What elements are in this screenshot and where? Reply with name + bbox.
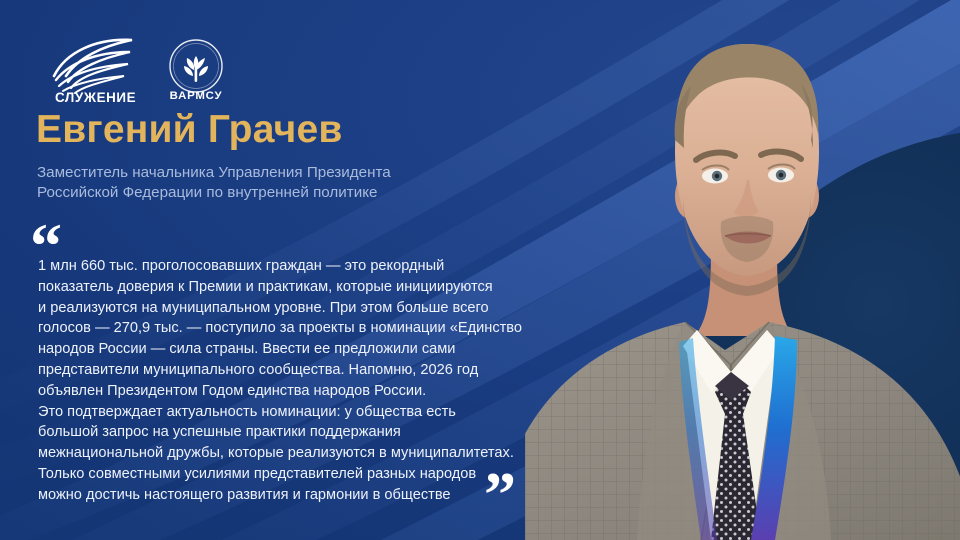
quote-line: 1 млн 660 тыс. проголосовавших граждан —… — [38, 256, 598, 277]
quote-line: можно достичь настоящего развития и гарм… — [38, 485, 598, 506]
quote-line: народов России — сила страны. Ввести ее … — [38, 339, 598, 360]
quote-line: Это подтверждает актуальность номинации:… — [38, 402, 598, 423]
quote-line: большой запрос на успешные практики подд… — [38, 422, 598, 443]
quote-paragraph: 1 млн 660 тыс. проголосовавших граждан —… — [38, 256, 598, 506]
quote-line: показатель доверия к Премии и практикам,… — [38, 277, 598, 298]
quote-line: объявлен Президентом Годом единства наро… — [38, 381, 598, 402]
quote-line: голосов — 270,9 тыс. — поступило за прое… — [38, 318, 598, 339]
speaker-role-line-2: Российской Федерации по внутренней полит… — [37, 183, 391, 203]
varmsu-logo-text: ВАРМСУ — [170, 90, 223, 102]
varmsu-logo[interactable]: ВАРМСУ — [160, 36, 232, 106]
speaker-role-line-1: Заместитель начальника Управления Презид… — [37, 163, 391, 183]
quote-line: и реализуются на муниципальном уровне. П… — [38, 298, 598, 319]
quote-line: Только совместными усилиями представител… — [38, 464, 598, 485]
quote-text: 1 млн 660 тыс. проголосовавших граждан —… — [38, 256, 598, 506]
sluzhenie-logo-text: СЛУЖЕНИЕ — [55, 90, 136, 105]
speaker-role: Заместитель начальника Управления Презид… — [37, 163, 391, 203]
speaker-name: Евгений Грачев — [36, 110, 343, 151]
quote-line: представители муниципального сообщества.… — [38, 360, 598, 381]
quote-card: СЛУЖЕНИЕ ВАРМСУ Евгений Грачев Заме — [0, 0, 960, 540]
logo-group: СЛУЖЕНИЕ ВАРМСУ — [44, 36, 232, 106]
quote-line: межнациональной дружбы, которые реализую… — [38, 443, 598, 464]
varmsu-leaf-icon — [184, 56, 208, 82]
sluzhenie-logo[interactable]: СЛУЖЕНИЕ — [44, 36, 140, 106]
quote-close-mark: ” — [484, 463, 514, 527]
